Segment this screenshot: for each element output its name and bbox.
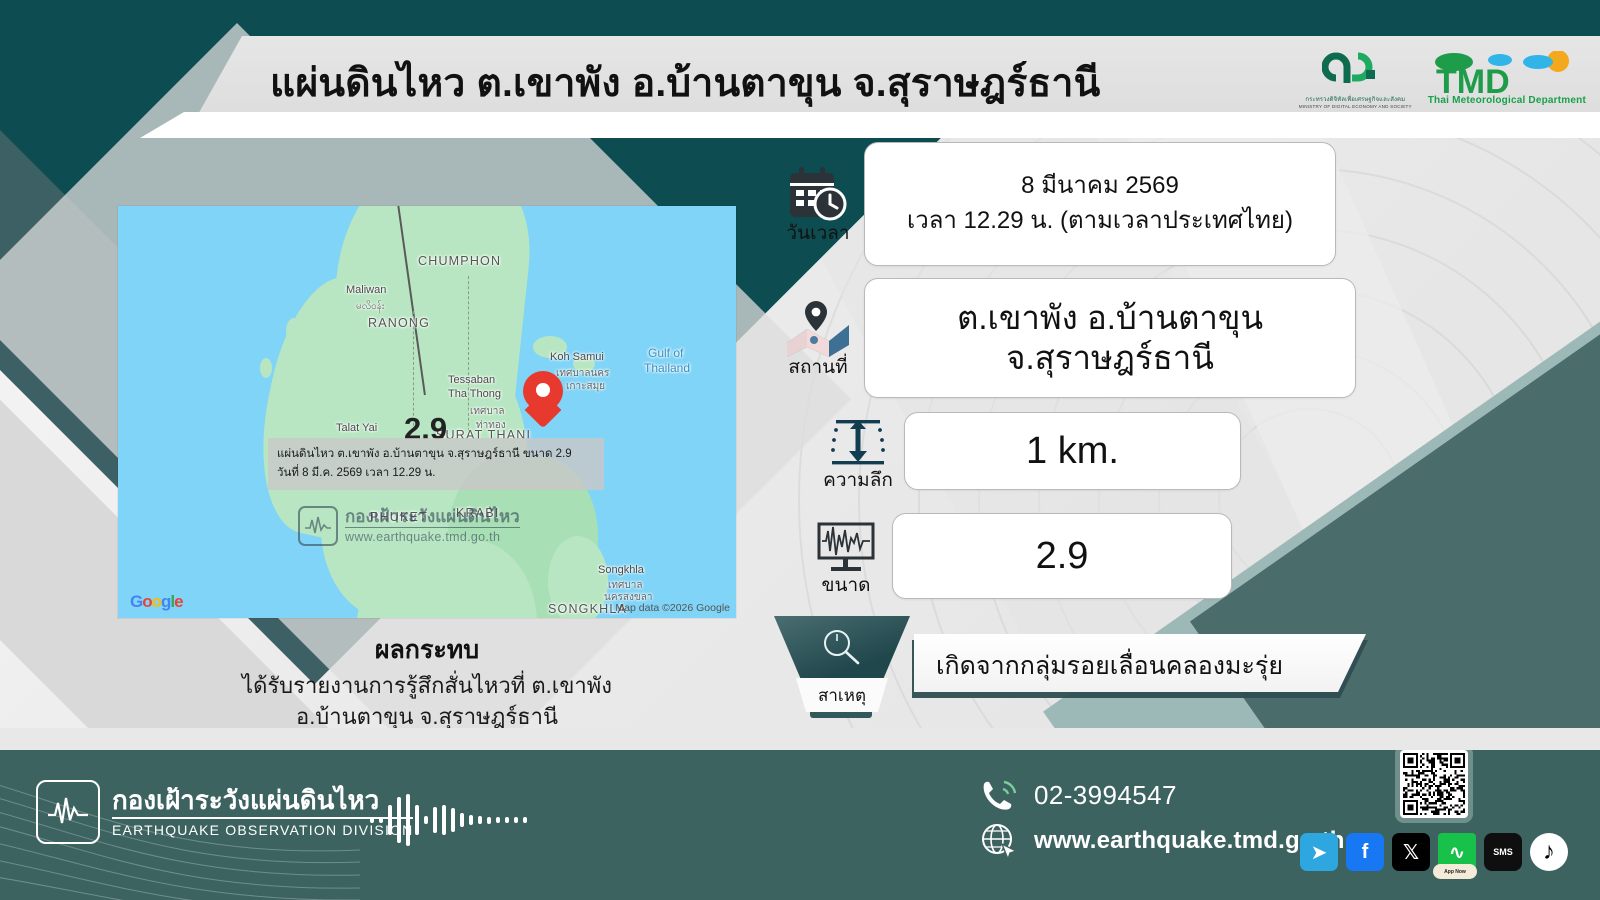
- eod-seismograph-icon: [36, 780, 100, 844]
- map-place-label: Thailand: [644, 361, 690, 375]
- datetime-card: 8 มีนาคม 2569 เวลา 12.29 น. (ตามเวลาประเ…: [864, 142, 1336, 266]
- waveform-bar: [514, 817, 518, 823]
- depth-icon-label: ความลึก: [823, 471, 893, 490]
- waveform-bar: [406, 794, 410, 846]
- datetime-value-date: 8 มีนาคม 2569: [1021, 169, 1179, 204]
- impact-section: ผลกระทบ ได้รับรายงานการรู้สึกสั่นไหวที่ …: [118, 630, 736, 731]
- x-twitter-icon[interactable]: 𝕏: [1392, 833, 1430, 871]
- waveform-bar: [424, 816, 428, 824]
- magnifier-icon: [820, 628, 864, 666]
- impact-line-2: อ.บ้านตาขุน จ.สุราษฎร์ธานี: [118, 703, 736, 732]
- location-icon-group: สถานที่: [772, 299, 864, 377]
- waveform-bar: [433, 807, 437, 833]
- globe-cursor-icon: [980, 822, 1020, 860]
- header-white-band: [140, 112, 1600, 138]
- info-row-magnitude: ขนาด 2.9: [800, 513, 1232, 599]
- social-links: ➤f𝕏∿App NowSMS♪: [1284, 833, 1584, 871]
- sms-icon[interactable]: SMS: [1484, 833, 1522, 871]
- google-logo-letter: e: [174, 592, 182, 611]
- location-card: ต.เขาพัง อ.บ้านตาขุน จ.สุราษฎร์ธานี: [864, 278, 1356, 398]
- qr-code[interactable]: [1395, 750, 1473, 823]
- page-title-wrap: แผ่นดินไหว ต.เขาพัง อ.บ้านตาขุน จ.สุราษฎ…: [270, 52, 1280, 114]
- header-logos: กระทรวงดิจิทัลเพื่อเศรษฐกิจและสังคม MINI…: [1299, 48, 1586, 109]
- waveform-bar: [496, 817, 500, 823]
- location-icon-label: สถานที่: [788, 358, 847, 377]
- waveform-bar: [451, 808, 455, 832]
- mdes-logo: กระทรวงดิจิทัลเพื่อเศรษฐกิจและสังคม MINI…: [1299, 48, 1412, 109]
- google-logo-letter: g: [161, 592, 170, 611]
- google-logo: Google: [130, 592, 183, 612]
- mdes-logo-caption-th: กระทรวงดิจิทัลเพื่อเศรษฐกิจและสังคม: [1305, 94, 1405, 104]
- depth-value: 1 km.: [1026, 430, 1119, 473]
- waveform-bar: [460, 813, 464, 827]
- info-row-datetime: วันเวลา 8 มีนาคม 2569 เวลา 12.29 น. (ตาม…: [772, 142, 1336, 266]
- seismograph-monitor-icon: [815, 517, 877, 575]
- footer-waveform-decoration: [370, 794, 527, 846]
- waveform-bar: [442, 805, 446, 835]
- map-caption-line-2: วันที่ 8 มี.ค. 2569 เวลา 12.29 น.: [277, 464, 595, 483]
- tmd-emblem-icon: TMD: [1432, 51, 1582, 97]
- cause-value: เกิดจากกลุ่มรอยเลื่อนคลองมะรุ่ย: [936, 646, 1283, 686]
- waveform-bar: [478, 816, 482, 824]
- magnitude-icon-group: ขนาด: [800, 517, 892, 595]
- waveform-bar: [469, 815, 473, 825]
- qr-code-image: [1403, 753, 1465, 815]
- phone-icon: [980, 778, 1020, 812]
- tiktok-icon[interactable]: ♪: [1530, 833, 1568, 871]
- datetime-icon-label: วันเวลา: [786, 224, 849, 243]
- map-caption-box: แผ่นดินไหว ต.เขาพัง อ.บ้านตาขุน จ.สุราษฎ…: [268, 438, 604, 490]
- earthquake-location-map[interactable]: CHUMPHONMaliwanမလိဝန်းRANONGKoh Samuiเทศ…: [118, 206, 736, 618]
- map-island: [260, 358, 272, 378]
- eod-title-th: กองเฝ้าระวังแผ่นดินไหว: [112, 786, 413, 819]
- waveform-bar: [397, 797, 401, 843]
- mdes-logo-caption-en: MINISTRY OF DIGITAL ECONOMY AND SOCIETY: [1299, 104, 1412, 109]
- map-watermark-url: www.earthquake.tmd.go.th: [345, 528, 520, 544]
- map-place-label: Tha Thong: [448, 388, 501, 400]
- eod-logo: กองเฝ้าระวังแผ่นดินไหว EARTHQUAKE OBSERV…: [36, 780, 413, 844]
- location-value-line-2: จ.สุราษฎร์ธานี: [1006, 338, 1214, 378]
- telegram-icon[interactable]: ➤: [1300, 833, 1338, 871]
- facebook-icon[interactable]: f: [1346, 833, 1384, 871]
- depth-arrow-icon: [824, 412, 892, 470]
- waveform-bar: [487, 817, 491, 824]
- map-province-border: [468, 276, 469, 436]
- impact-line-1: ได้รับรายงานการรู้สึกสั่นไหวที่ ต.เขาพัง: [118, 672, 736, 701]
- waveform-bar: [370, 817, 374, 823]
- cause-banner: เกิดจากกลุ่มรอยเลื่อนคลองมะรุ่ย สาเหตุ: [766, 626, 1366, 702]
- phone-number[interactable]: 02-3994547: [1034, 780, 1177, 811]
- map-caption-line-1: แผ่นดินไหว ต.เขาพัง อ.บ้านตาขุน จ.สุราษฎ…: [277, 445, 595, 464]
- map-place-label: CHUMPHON: [418, 254, 501, 268]
- google-logo-letter: G: [130, 592, 142, 611]
- waveform-bar: [388, 805, 392, 835]
- map-place-label: မလိဝန်း: [356, 299, 384, 314]
- subscribe-section: รับข่าวสารแผ่นดินไหว ➤f𝕏∿App NowSMS♪: [1284, 750, 1584, 871]
- waveform-bar: [379, 817, 383, 823]
- map-watermark-title: กองเฝ้าระวังแผ่นดินไหว: [345, 508, 520, 528]
- info-row-location: สถานที่ ต.เขาพัง อ.บ้านตาขุน จ.สุราษฎร์ธ…: [772, 278, 1356, 398]
- waveform-bar: [505, 817, 509, 823]
- mdes-emblem-icon: [1322, 48, 1388, 92]
- cause-badge-nub: [810, 712, 872, 718]
- app-badge-text: App Now: [1444, 869, 1466, 875]
- tmd-logo: TMD Thai Meteorological Department: [1428, 51, 1586, 106]
- waveform-bar: [415, 805, 419, 835]
- magnitude-icon-label: ขนาด: [822, 576, 871, 595]
- footer: กองเฝ้าระวังแผ่นดินไหว EARTHQUAKE OBSERV…: [0, 750, 1600, 900]
- map-place-label: เทศบาล: [470, 404, 504, 419]
- tmd-app-icon[interactable]: ∿App Now: [1438, 833, 1476, 871]
- app-download-badge: App Now: [1433, 864, 1477, 879]
- map-place-label: Talat Yai: [336, 422, 377, 434]
- map-attribution: Map data ©2026 Google: [615, 602, 730, 614]
- map-place-label: Tessaban: [448, 374, 495, 386]
- folded-map-pin-icon: [781, 299, 855, 357]
- waveform-bar: [523, 817, 527, 823]
- magnitude-value: 2.9: [1036, 535, 1089, 578]
- map-place-label: Koh Samui: [550, 351, 604, 363]
- map-watermark: กองเฝ้าระวังแผ่นดินไหว www.earthquake.tm…: [298, 506, 520, 546]
- cause-icon-badge: [766, 616, 918, 682]
- seismograph-icon: [298, 506, 338, 546]
- footer-divider: [0, 728, 1600, 750]
- eod-title-en: EARTHQUAKE OBSERVATION DIVISION: [112, 819, 413, 838]
- epicenter-marker-icon: [523, 371, 563, 425]
- depth-icon-group: ความลึก: [812, 412, 904, 490]
- map-island: [286, 318, 302, 344]
- datetime-value-time: เวลา 12.29 น. (ตามเวลาประเทศไทย): [907, 204, 1293, 239]
- page-title: แผ่นดินไหว ต.เขาพัง อ.บ้านตาขุน จ.สุราษฎ…: [270, 52, 1280, 114]
- location-value-line-1: ต.เขาพัง อ.บ้านตาขุน: [957, 298, 1263, 338]
- google-logo-letter: o: [152, 592, 161, 611]
- map-place-label: RANONG: [368, 316, 430, 330]
- magnitude-card: 2.9: [892, 513, 1232, 599]
- datetime-icon-group: วันเวลา: [772, 165, 864, 243]
- google-logo-letter: o: [142, 592, 151, 611]
- map-place-label: เกาะสมุย: [566, 379, 605, 394]
- calendar-clock-icon: [786, 165, 850, 223]
- svg-text:TMD: TMD: [1436, 63, 1510, 97]
- map-place-label: Songkhla: [598, 564, 644, 576]
- tmd-logo-caption: Thai Meteorological Department: [1428, 95, 1586, 106]
- depth-card: 1 km.: [904, 412, 1241, 490]
- map-place-label: Maliwan: [346, 284, 386, 296]
- map-place-label: Gulf of: [648, 346, 683, 360]
- infographic-root: แผ่นดินไหว ต.เขาพัง อ.บ้านตาขุน จ.สุราษฎ…: [0, 0, 1600, 900]
- info-row-depth: ความลึก 1 km.: [812, 412, 1241, 490]
- impact-heading: ผลกระทบ: [118, 630, 736, 670]
